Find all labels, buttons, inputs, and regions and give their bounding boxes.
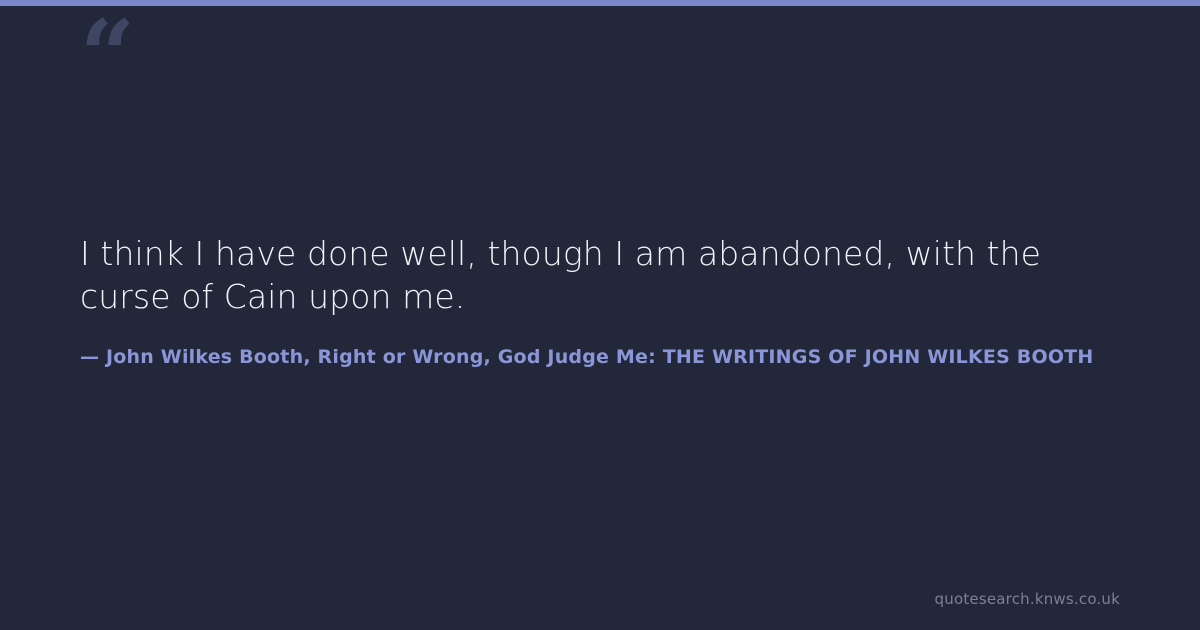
source-site-url: quotesearch.knws.co.uk xyxy=(935,590,1120,608)
quote-text: I think I have done well, though I am ab… xyxy=(80,232,1126,318)
quote-attribution: — John Wilkes Booth, Right or Wrong, God… xyxy=(80,344,1200,370)
quote-card: “ I think I have done well, though I am … xyxy=(0,0,1200,630)
top-accent-bar xyxy=(0,0,1200,6)
opening-quotation-mark-icon: “ xyxy=(80,8,133,104)
quote-content: I think I have done well, though I am ab… xyxy=(80,232,1200,370)
